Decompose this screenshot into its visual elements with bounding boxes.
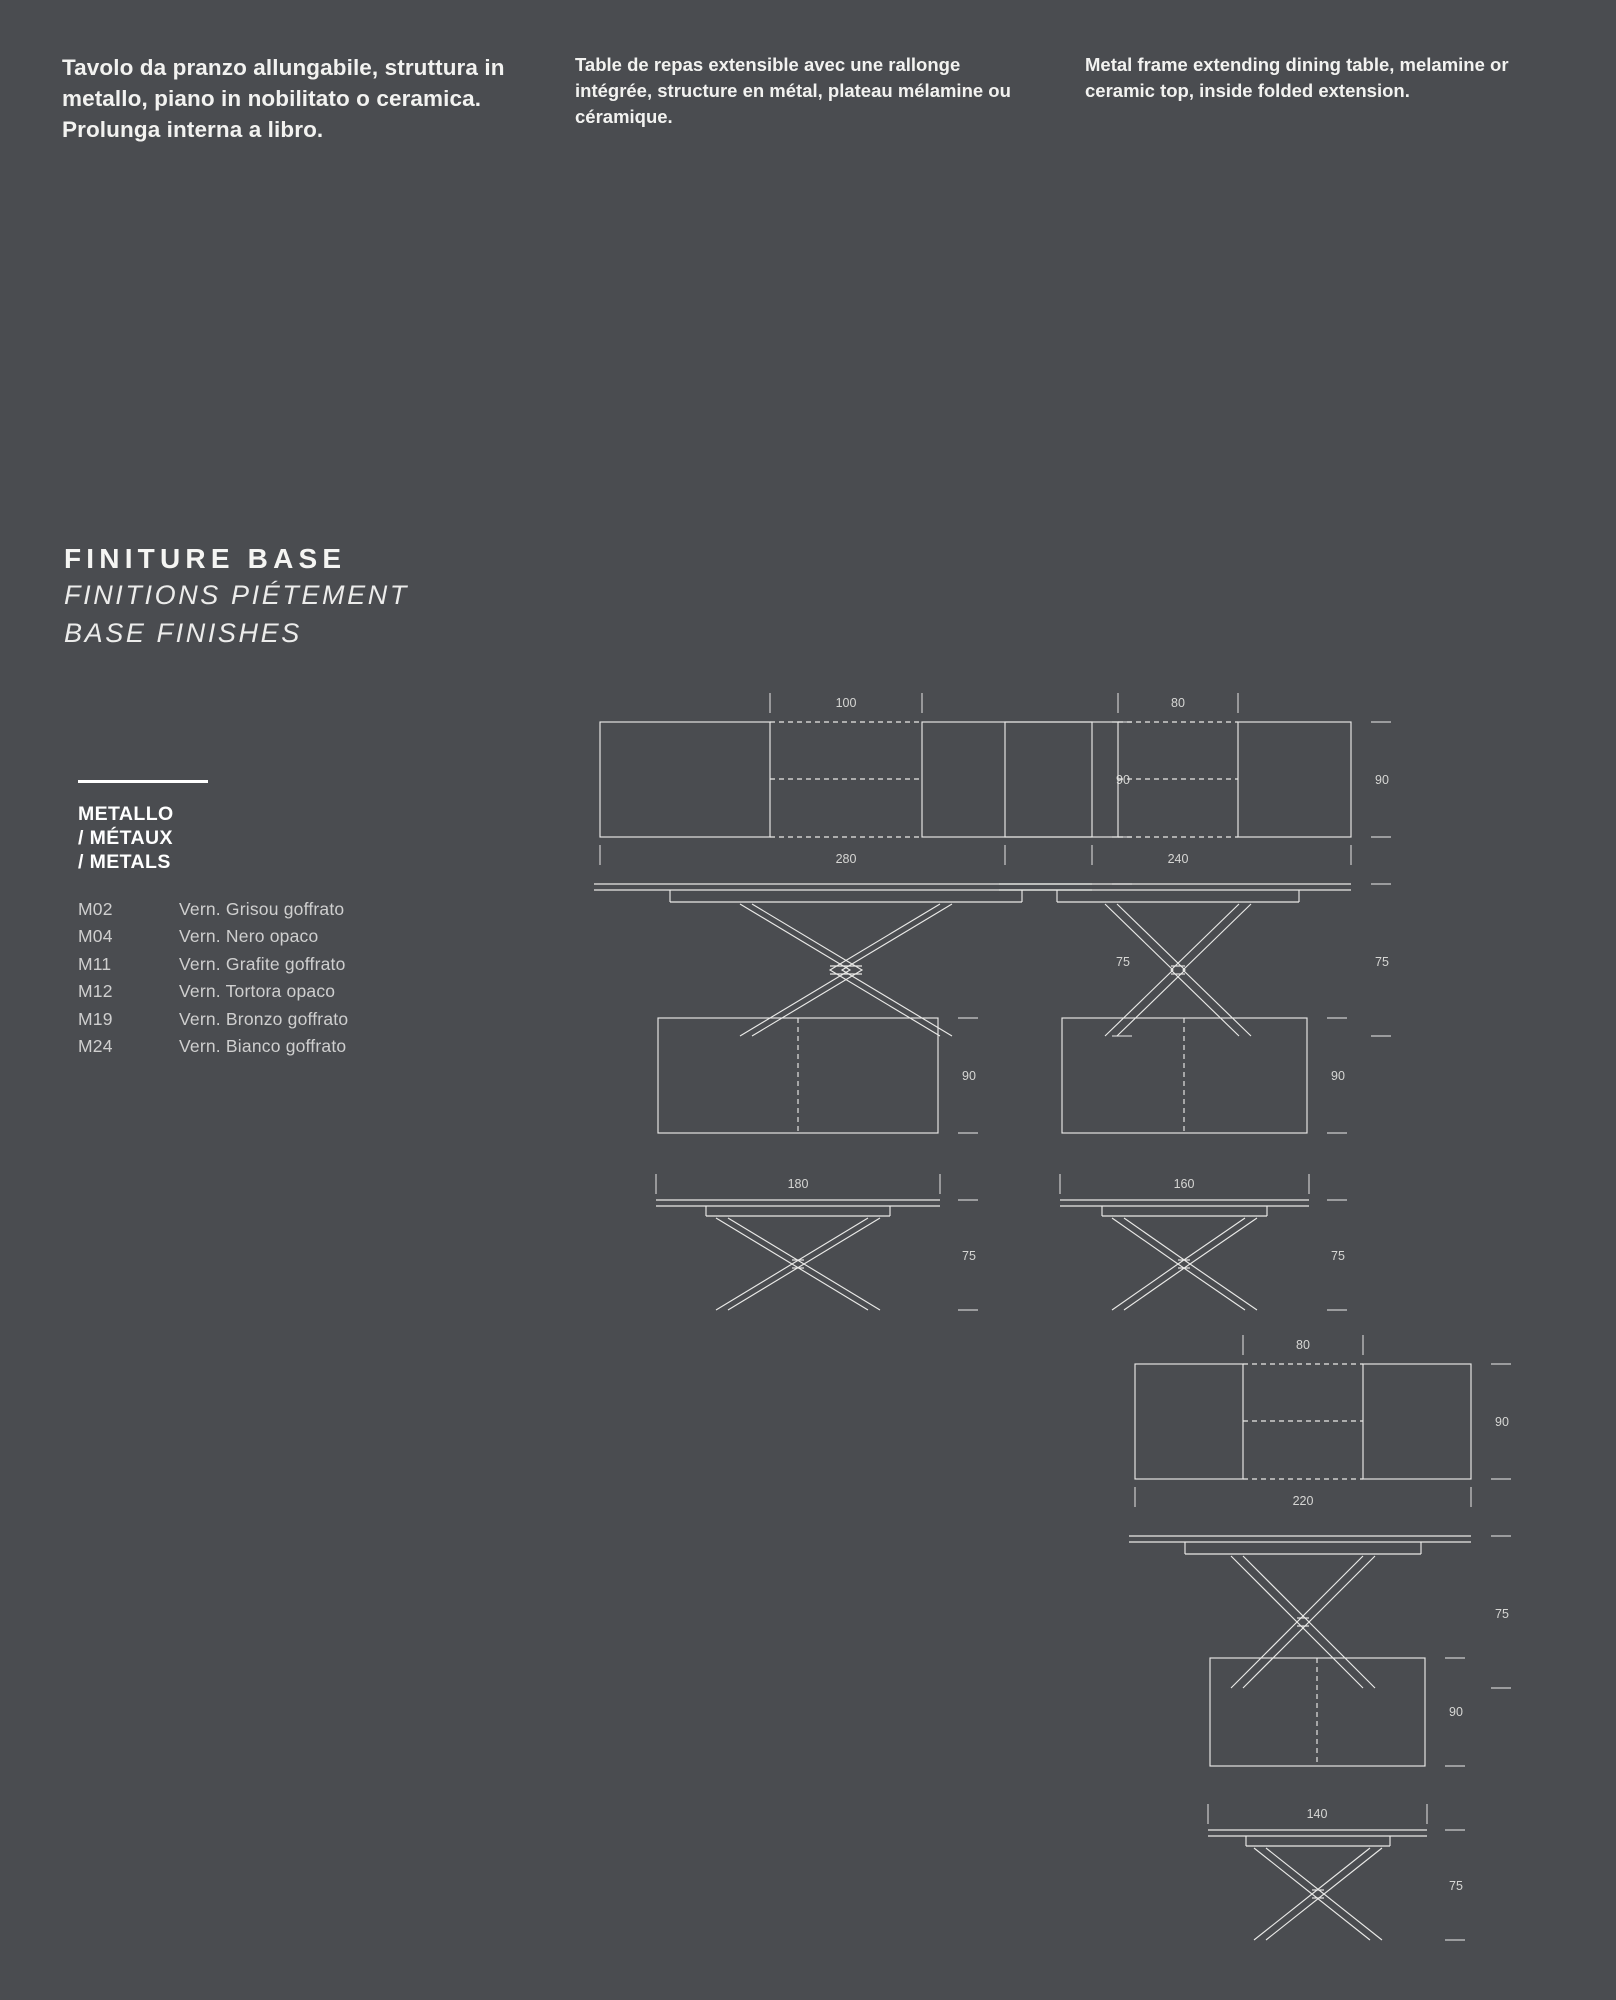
finish-name: Vern. Grisou goffrato bbox=[179, 896, 344, 924]
finish-code: M12 bbox=[78, 978, 179, 1006]
finish-name: Vern. Bronzo goffrato bbox=[179, 1006, 348, 1034]
drawing-140-elevation: 140 75 bbox=[1210, 1812, 1460, 1942]
dim-open-width: 240 bbox=[1168, 852, 1189, 866]
section-title-italian: FINITURE BASE bbox=[64, 540, 409, 577]
list-item: M19 Vern. Bronzo goffrato bbox=[78, 1006, 348, 1034]
drawing-240-open-plan: 80 90 240 bbox=[1005, 685, 1385, 835]
finish-code: M19 bbox=[78, 1006, 179, 1034]
finish-code: M02 bbox=[78, 896, 179, 924]
dim-closed-width: 140 bbox=[1307, 1807, 1328, 1821]
dim-depth: 90 bbox=[1495, 1415, 1509, 1429]
drawing-220-elevation: 75 bbox=[1135, 1530, 1495, 1640]
finish-name: Vern. Grafite goffrato bbox=[179, 951, 346, 979]
finishes-title-french: / MÉTAUX bbox=[78, 826, 348, 850]
dim-closed-height: 75 bbox=[1331, 1249, 1345, 1263]
x-leg-frame bbox=[716, 1218, 880, 1310]
finish-name: Vern. Tortora opaco bbox=[179, 978, 335, 1006]
dim-closed-depth: 90 bbox=[1331, 1069, 1345, 1083]
section-heading: FINITURE BASE FINITIONS PIÉTEMENT BASE F… bbox=[64, 540, 409, 653]
dim-closed-depth: 90 bbox=[962, 1069, 976, 1083]
dim-open-width: 220 bbox=[1293, 1494, 1314, 1508]
drawing-180-closed-plan: 90 bbox=[658, 1018, 978, 1168]
dim-extension-width: 80 bbox=[1296, 1338, 1310, 1352]
list-item: M24 Vern. Bianco goffrato bbox=[78, 1033, 348, 1061]
dim-height: 75 bbox=[1495, 1607, 1509, 1621]
drawing-160-closed-plan: 90 bbox=[1062, 1018, 1342, 1168]
finish-name: Vern. Nero opaco bbox=[179, 923, 318, 951]
finish-code: M11 bbox=[78, 951, 179, 979]
drawing-220-open-plan: 80 90 220 bbox=[1135, 1327, 1495, 1477]
finishes-title-italian: METALLO bbox=[78, 802, 348, 826]
x-leg-frame bbox=[1254, 1848, 1382, 1940]
dim-open-width: 280 bbox=[836, 852, 857, 866]
dim-closed-depth: 90 bbox=[1449, 1705, 1463, 1719]
intro-text-italian: Tavolo da pranzo allungabile, struttura … bbox=[62, 52, 532, 145]
list-item: M11 Vern. Grafite goffrato bbox=[78, 951, 348, 979]
dim-closed-height: 75 bbox=[1449, 1879, 1463, 1893]
finishes-divider bbox=[78, 780, 208, 783]
finishes-block: METALLO / MÉTAUX / METALS M02 Vern. Gris… bbox=[78, 780, 348, 1061]
x-leg-frame bbox=[1112, 1218, 1257, 1310]
dim-depth: 90 bbox=[1375, 773, 1389, 787]
list-item: M12 Vern. Tortora opaco bbox=[78, 978, 348, 1006]
finish-code: M04 bbox=[78, 923, 179, 951]
intro-section: Tavolo da pranzo allungabile, struttura … bbox=[0, 52, 1616, 212]
drawing-140-closed-plan: 90 bbox=[1210, 1658, 1460, 1798]
dim-closed-width: 160 bbox=[1174, 1177, 1195, 1191]
finishes-title-english: / METALS bbox=[78, 850, 348, 874]
list-item: M04 Vern. Nero opaco bbox=[78, 923, 348, 951]
section-title-french: FINITIONS PIÉTEMENT bbox=[64, 577, 409, 615]
x-leg-frame bbox=[740, 904, 952, 1036]
dim-closed-width: 180 bbox=[788, 1177, 809, 1191]
drawing-180-elevation: 180 75 bbox=[658, 1182, 978, 1292]
section-title-english: BASE FINISHES bbox=[64, 615, 409, 653]
dim-closed-height: 75 bbox=[962, 1249, 976, 1263]
finish-name: Vern. Bianco goffrato bbox=[179, 1033, 346, 1061]
dim-height: 75 bbox=[1375, 955, 1389, 969]
finishes-list: M02 Vern. Grisou goffrato M04 Vern. Nero… bbox=[78, 896, 348, 1061]
intro-text-french: Table de repas extensible avec une rallo… bbox=[575, 52, 1035, 130]
dim-extension-width: 100 bbox=[836, 696, 857, 710]
drawing-160-elevation: 160 75 bbox=[1062, 1182, 1342, 1292]
intro-text-english: Metal frame extending dining table, mela… bbox=[1085, 52, 1575, 104]
x-leg-frame bbox=[1105, 904, 1251, 1036]
drawing-240-elevation: 75 bbox=[1005, 878, 1385, 988]
dim-extension-width: 80 bbox=[1171, 696, 1185, 710]
finish-code: M24 bbox=[78, 1033, 179, 1061]
list-item: M02 Vern. Grisou goffrato bbox=[78, 896, 348, 924]
